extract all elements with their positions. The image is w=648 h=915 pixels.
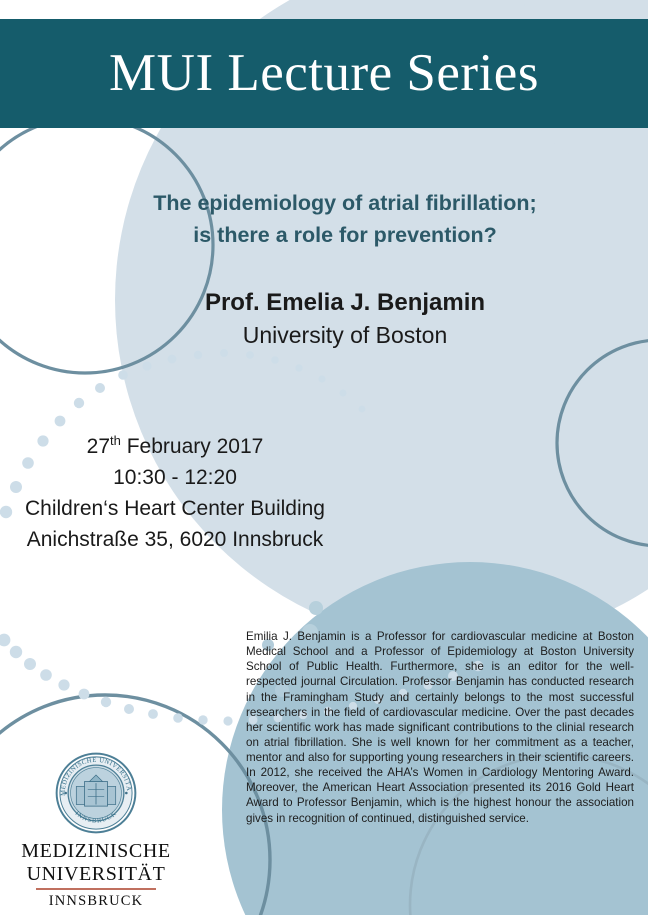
page-title: MUI Lecture Series: [109, 47, 539, 100]
event-venue: Children‘s Heart Center Building: [10, 494, 340, 525]
outline-circle-right: [557, 340, 648, 546]
university-seal-icon: MEDIZINISCHE UNIVERSITÄT INNSBRUCK: [55, 752, 137, 834]
speaker-affiliation: University of Boston: [60, 321, 630, 351]
speaker-biography: Emilia J. Benjamin is a Professor for ca…: [246, 629, 634, 826]
logo-text-line-1: MEDIZINISCHE: [8, 840, 184, 863]
speaker-name: Prof. Emelia J. Benjamin: [60, 288, 630, 319]
university-logo: MEDIZINISCHE UNIVERSITÄT INNSBRUCK MEDIZ…: [8, 752, 184, 909]
event-date-day: 27: [87, 435, 110, 458]
event-date-rest: February 2017: [121, 435, 263, 458]
logo-text-line-3: INNSBRUCK: [8, 893, 184, 910]
event-time: 10:30 - 12:20: [10, 463, 340, 494]
logo-divider-rule: [36, 888, 156, 890]
event-date-ordinal: th: [110, 433, 121, 448]
speaker-block: Prof. Emelia J. Benjamin University of B…: [60, 288, 630, 351]
lecture-title: The epidemiology of atrial fibrillation;…: [60, 188, 630, 252]
event-date: 27th February 2017: [10, 432, 340, 463]
deco-dot: [309, 601, 323, 615]
lecture-title-line-2: is there a role for prevention?: [60, 220, 630, 252]
poster-header-bar: MUI Lecture Series: [0, 19, 648, 128]
event-address: Anichstraße 35, 6020 Innsbruck: [10, 525, 340, 556]
lecture-poster: MUI Lecture Series The epidemiology of a…: [0, 0, 648, 915]
lecture-title-line-1: The epidemiology of atrial fibrillation;: [60, 188, 630, 220]
event-details: 27th February 2017 10:30 - 12:20 Childre…: [10, 432, 340, 555]
logo-text-line-2: UNIVERSITÄT: [8, 863, 184, 886]
